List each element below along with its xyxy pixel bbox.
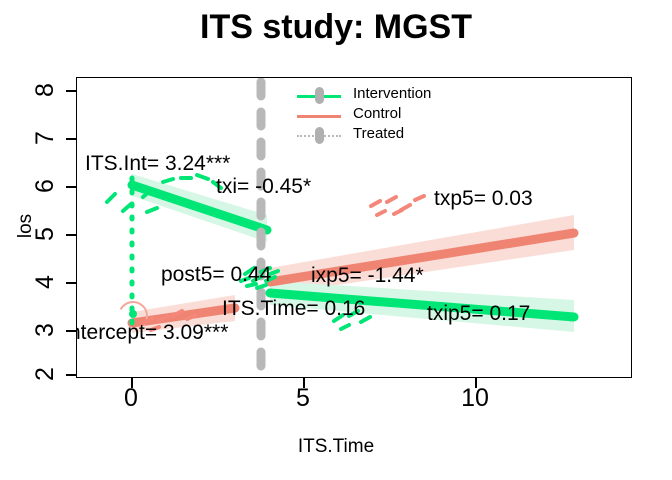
y-tick-label-7: 7 (32, 121, 58, 155)
legend-label-treated: Treated (353, 125, 404, 142)
y-tick-mark-3 (66, 330, 76, 332)
x-tick-label-0: 0 (101, 384, 161, 413)
annotation-post5: post5= 0.44 (161, 263, 271, 287)
legend-key-intervention-marker (315, 87, 324, 104)
y-tick-mark-4 (66, 282, 76, 284)
y-tick-label-5: 5 (32, 217, 58, 251)
legend-label-intervention: Intervention (353, 85, 431, 102)
y-tick-label-2: 2 (32, 357, 58, 391)
x-tick-label-5: 5 (273, 384, 333, 413)
y-tick-label-4: 4 (32, 265, 58, 299)
x-axis-title: ITS.Time (0, 436, 672, 458)
chart-root: ITS study: MGST los 8 7 6 5 4 3 2 0 5 10… (0, 0, 672, 480)
annotation-ixp5: ixp5= -1.44* (311, 264, 424, 288)
y-tick-label-6: 6 (32, 169, 58, 203)
x-tick-label-10: 10 (445, 384, 505, 413)
y-tick-mark-6 (66, 186, 76, 188)
legend-key-control-line (297, 115, 341, 118)
legend-key-treated-marker (315, 127, 324, 144)
legend-label-control: Control (353, 105, 401, 122)
annotation-txi: txi= -0.45* (216, 175, 311, 199)
y-tick-mark-2 (66, 374, 76, 376)
y-tick-mark-5 (66, 234, 76, 236)
annotation-txip5: txip5= 0.17 (427, 302, 530, 326)
y-tick-mark-7 (66, 138, 76, 140)
annotation-txp5: txp5= 0.03 (434, 187, 533, 211)
plot-area: Intervention Control Treated ITS.Int= 3.… (76, 77, 632, 378)
y-tick-mark-8 (66, 90, 76, 92)
legend-item-treated[interactable]: Treated (297, 126, 497, 145)
annotation-its-time: ITS.Time= 0.16 (222, 297, 365, 321)
legend-item-control[interactable]: Control (297, 106, 497, 125)
chart-title: ITS study: MGST (0, 8, 672, 47)
annotation-intercept: ntercept= 3.09*** (76, 321, 228, 345)
y-tick-label-8: 8 (32, 73, 58, 107)
chart-legend: Intervention Control Treated (297, 86, 497, 146)
y-tick-label-3: 3 (32, 313, 58, 347)
annotation-its-int: ITS.Int= 3.24*** (85, 152, 230, 176)
legend-item-intervention[interactable]: Intervention (297, 86, 497, 105)
